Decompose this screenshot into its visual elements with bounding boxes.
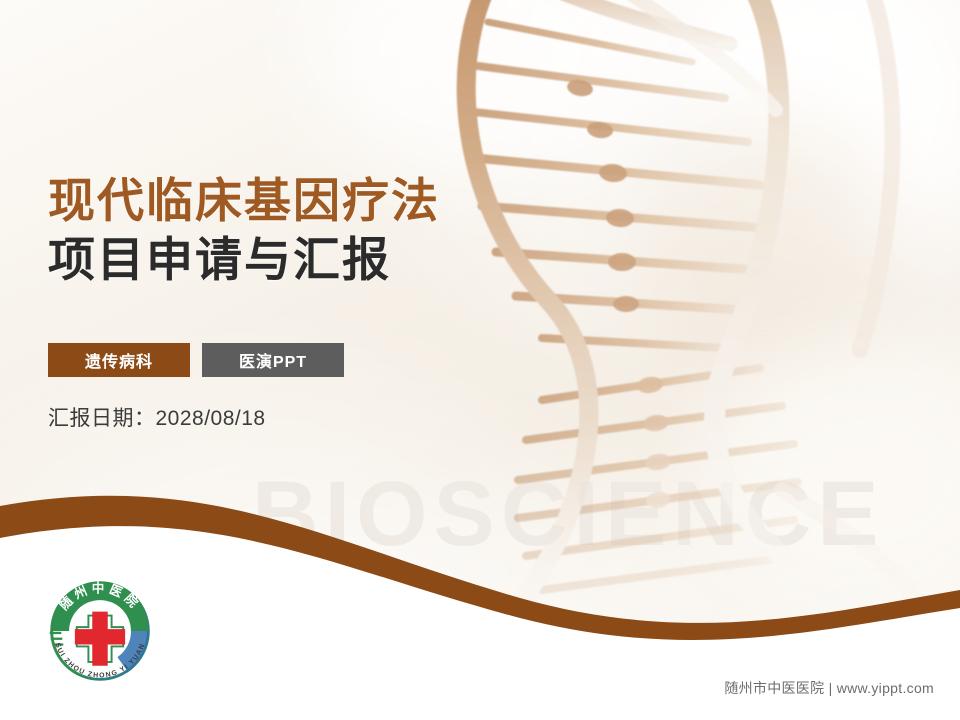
page-title: 现代临床基因疗法 项目申请与汇报 (48, 172, 440, 290)
footer-credit: 随州市中医医院 | www.yippt.com (724, 678, 934, 698)
presentation-cover-slide: BIOSCIENCE (0, 0, 960, 720)
title-line-primary: 现代临床基因疗法 (48, 172, 440, 229)
report-date: 汇报日期：2028/08/18 (48, 402, 266, 432)
tag-row: 遗传病科 医演PPT (48, 343, 344, 377)
title-line-secondary: 项目申请与汇报 (48, 229, 440, 290)
tag-department[interactable]: 遗传病科 (48, 343, 190, 377)
tag-template-brand[interactable]: 医演PPT (202, 343, 344, 377)
hospital-logo: 随州中医院 SUI ZHOU ZHONG YI YUAN (42, 573, 158, 689)
